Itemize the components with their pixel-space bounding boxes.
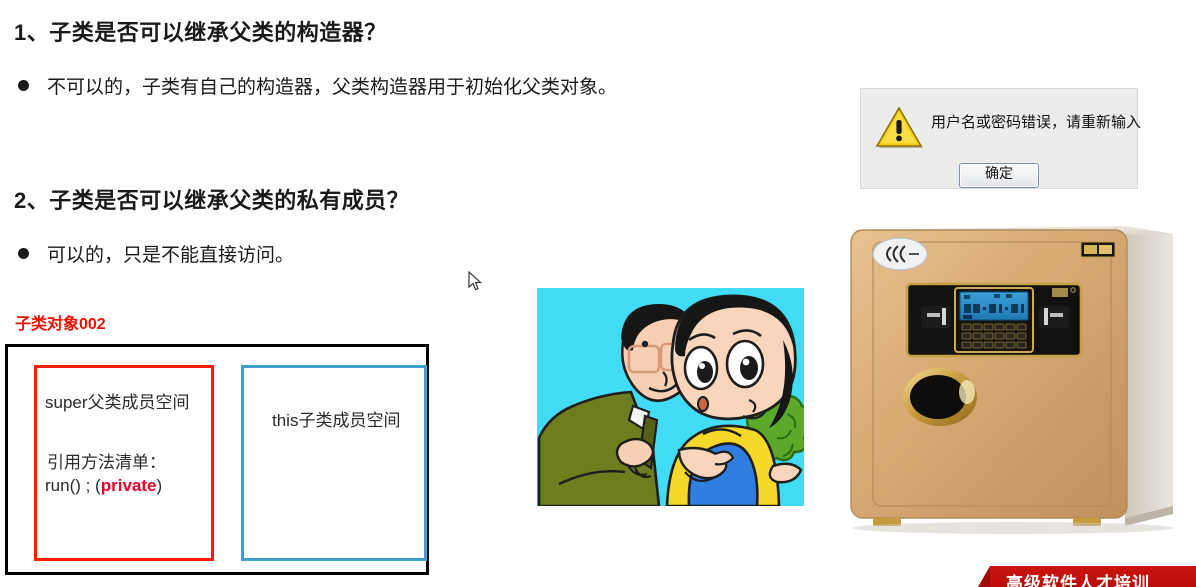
this-member-space-box: this子类成员空间 xyxy=(241,365,427,561)
banner-notch-shape xyxy=(978,566,990,587)
warning-triangle-icon xyxy=(875,105,923,149)
cartoon-illustration-graphic xyxy=(537,288,804,506)
super-space-title: super父类成员空间 xyxy=(45,388,190,413)
super-method-list-label: 引用方法清单： xyxy=(47,448,166,473)
banner-text: 高级软件人才培训 xyxy=(1006,569,1150,587)
method-signature-prefix: run() ; ( xyxy=(45,476,101,495)
login-error-dialog: 用户名或密码错误，请重新输入 确定 xyxy=(860,88,1138,189)
cartoon-father-and-son-image xyxy=(537,288,804,506)
bullet-dot-icon xyxy=(18,248,29,259)
object-memory-box: super父类成员空间 引用方法清单： run() ; (private) th… xyxy=(5,344,429,575)
dialog-message-text: 用户名或密码错误，请重新输入 xyxy=(931,111,1141,132)
question-2-heading: 2、子类是否可以继承父类的私有成员？ xyxy=(14,183,409,215)
question-2-answer-row: 可以的，只是不能直接访问。 xyxy=(18,240,294,267)
arrow-pointer-cursor xyxy=(468,271,482,291)
question-2-answer-text: 可以的，只是不能直接访问。 xyxy=(47,240,294,267)
bottom-red-banner: 高级软件人才培训 xyxy=(978,566,1196,587)
question-1-answer-row: 不可以的，子类有自己的构造器，父类构造器用于初始化父类对象。 xyxy=(18,72,617,99)
this-space-title: this子类成员空间 xyxy=(272,406,400,431)
question-1-heading: 1、子类是否可以继承父类的构造器？ xyxy=(14,15,387,47)
super-method-entry: run() ; (private) xyxy=(45,476,162,496)
dialog-ok-button[interactable]: 确定 xyxy=(959,163,1039,188)
slide-canvas: 1、子类是否可以继承父类的构造器？ 不可以的，子类有自己的构造器，父类构造器用于… xyxy=(0,0,1196,587)
super-member-space-box: super父类成员空间 引用方法清单： run() ; (private) xyxy=(34,365,214,561)
electronic-safe-image xyxy=(843,212,1179,534)
bullet-dot-icon xyxy=(18,80,29,91)
question-1-answer-text: 不可以的，子类有自己的构造器，父类构造器用于初始化父类对象。 xyxy=(47,72,617,99)
safe-photo-graphic xyxy=(843,212,1179,534)
private-keyword: private xyxy=(101,476,157,495)
ccc-certification-logo xyxy=(873,238,927,270)
diagram-title-label: 子类对象002 xyxy=(15,310,106,334)
method-signature-suffix: ) xyxy=(156,476,162,495)
